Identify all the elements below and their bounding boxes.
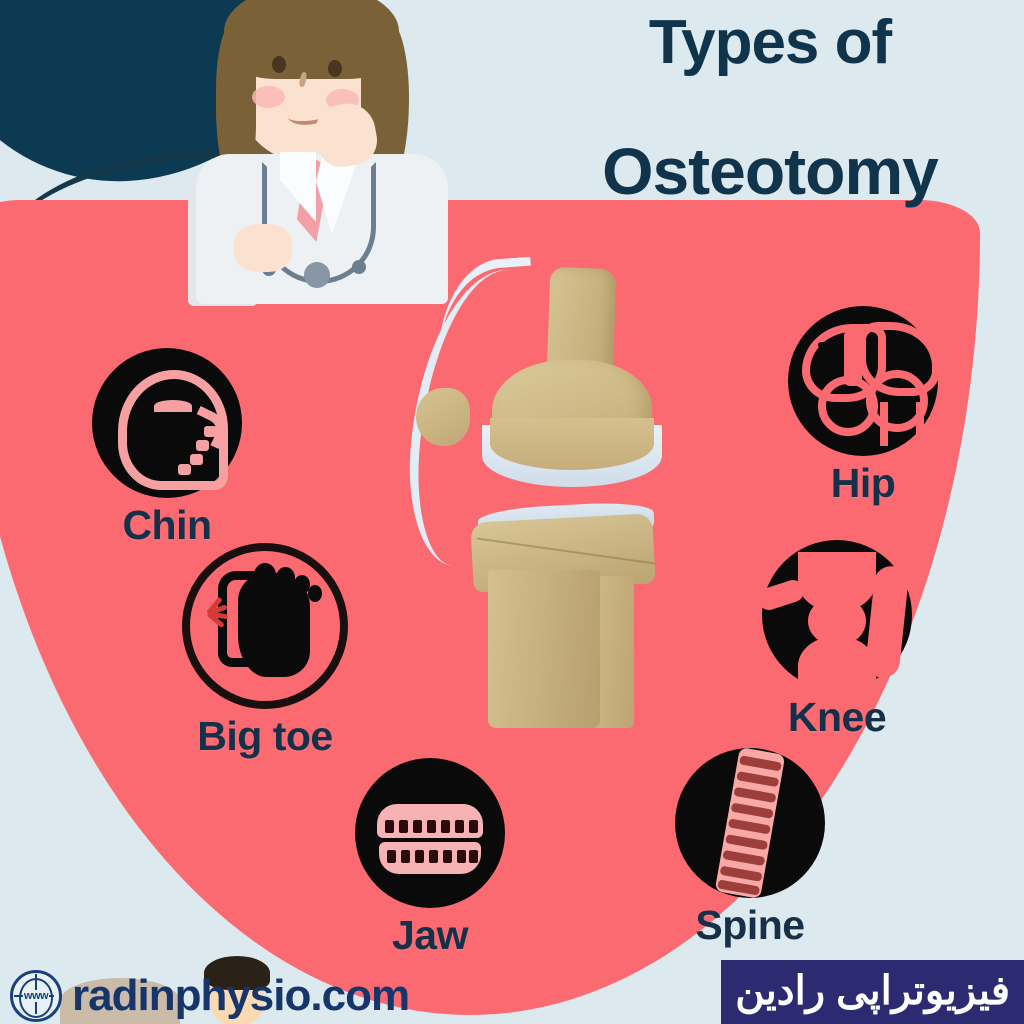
knee-anatomy-illustration [400, 250, 680, 730]
head-profile-icon[interactable] [92, 348, 242, 498]
tibia-shaft [488, 570, 600, 728]
toe-4 [308, 585, 322, 602]
spinal-column-shape [715, 747, 786, 899]
doctor-eye-right [328, 60, 342, 77]
infographic-canvas: Types of Osteotomy [0, 0, 1024, 1024]
chin-dash-3 [178, 464, 191, 475]
node-bigtoe[interactable]: Big toe [140, 543, 390, 760]
doctor-eye-left [272, 56, 286, 73]
page-title: Types of Osteotomy [520, 8, 1020, 209]
knee-notch-left [756, 577, 807, 612]
globe-www-label: www [23, 990, 49, 1002]
knee-tibia-cutout [798, 636, 876, 696]
doctor-illustration [176, 0, 476, 284]
knee-joint-icon[interactable] [762, 540, 912, 690]
foot-pain-icon[interactable] [182, 543, 348, 709]
head-brow-shape [154, 400, 192, 412]
chin-dash-1 [196, 440, 209, 451]
node-spine-label: Spine [640, 902, 860, 949]
pelvis-hip-joint-icon[interactable] [788, 306, 938, 456]
chin-dash-4 [204, 426, 217, 437]
site-url-text: radinphysio.com [72, 971, 409, 1021]
title-line-1: Types of [520, 8, 1020, 77]
site-watermark[interactable]: www radinphysio.com [10, 970, 409, 1022]
pain-burst-icon [194, 593, 228, 633]
node-chin[interactable]: Chin [62, 348, 272, 549]
stethoscope-bell [304, 262, 330, 288]
node-knee[interactable]: Knee [712, 540, 962, 741]
node-hip-label: Hip [768, 460, 958, 507]
node-chin-label: Chin [62, 502, 272, 549]
node-jaw[interactable]: Jaw [330, 758, 530, 959]
brand-banner[interactable]: فیزیوتراپی رادین [721, 960, 1024, 1024]
title-line-2: Osteotomy [520, 135, 1020, 209]
patella-bone [416, 388, 470, 446]
globe-icon: www [10, 970, 62, 1022]
toe-2 [276, 567, 295, 588]
stethoscope-earpiece-right [352, 260, 366, 274]
node-spine[interactable]: Spine [640, 748, 860, 949]
femur-neck [880, 402, 924, 446]
brand-banner-text-fa: فیزیوتراپی رادین [735, 968, 1010, 1014]
femur-cartilage-cap [490, 418, 654, 470]
node-jaw-label: Jaw [330, 912, 530, 959]
node-hip[interactable]: Hip [768, 306, 958, 507]
doctor-hand-lower [234, 224, 292, 272]
vertebral-column-icon[interactable] [675, 748, 825, 898]
chin-dash-2 [190, 454, 203, 465]
doctor-cheek-left [252, 86, 285, 108]
teeth-jaw-icon[interactable] [355, 758, 505, 908]
node-knee-label: Knee [712, 694, 962, 741]
node-bigtoe-label: Big toe [140, 713, 390, 760]
